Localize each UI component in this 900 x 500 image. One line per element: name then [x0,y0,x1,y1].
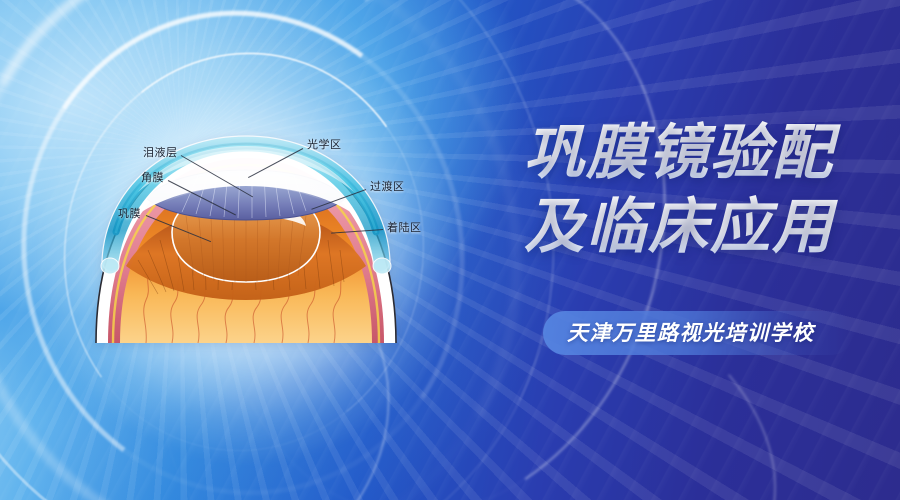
diagram-label-cornea: 角膜 [141,172,164,183]
title-line-2: 及临床应用 [524,192,884,262]
diagram-label-transition-zone: 过渡区 [370,181,405,192]
subtitle-pill: 天津万里路视光培训学校 [543,311,853,355]
banner-title: 巩膜镜验配 及临床应用 [524,118,884,262]
eye-cross-section-illustration [86,128,406,343]
subtitle-text: 天津万里路视光培训学校 [567,320,815,346]
title-line-1: 巩膜镜验配 [524,118,884,188]
diagram-label-optic-zone: 光学区 [307,139,342,150]
diagram-label-tear-layer: 泪液层 [143,147,178,158]
promo-banner: 泪液层 角膜 巩膜 光学区 过渡区 着陆区 巩膜镜验配 及临床应用 天津万里路视… [0,0,900,500]
diagram-label-landing-zone: 着陆区 [387,222,422,233]
diagram-label-sclera: 巩膜 [118,208,141,219]
